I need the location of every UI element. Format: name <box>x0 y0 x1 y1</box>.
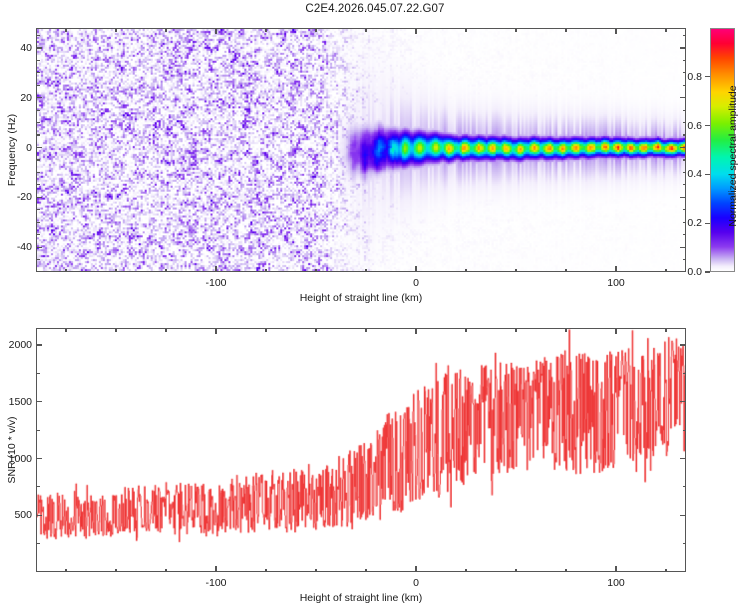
y-axis-major-tick <box>36 47 42 48</box>
x-axis-major-tick <box>615 566 616 572</box>
colorbar-tick <box>705 223 710 224</box>
y-axis-tick-label: -20 <box>0 191 32 203</box>
x-axis-minor-tick <box>115 569 116 573</box>
y-axis-minor-tick <box>683 110 687 111</box>
y-axis-minor-tick <box>683 35 687 36</box>
x-axis-minor-tick <box>115 28 116 32</box>
x-axis-major-tick <box>215 566 216 572</box>
spectrogram-axes <box>36 28 686 272</box>
y-axis-minor-tick <box>683 60 687 61</box>
y-axis-minor-tick <box>683 234 687 235</box>
x-axis-minor-tick <box>265 569 266 573</box>
colorbar-tick-label: 0.4 <box>670 168 702 180</box>
x-axis-major-tick <box>415 328 416 334</box>
y-axis-minor-tick <box>36 430 40 431</box>
x-axis-minor-tick <box>65 569 66 573</box>
colorbar-tick <box>705 76 710 77</box>
x-axis-major-tick <box>415 566 416 572</box>
y-axis-major-tick <box>36 97 42 98</box>
y-axis-tick-label: -40 <box>0 241 32 253</box>
y-axis-minor-tick <box>36 222 40 223</box>
x-axis-major-tick <box>615 28 616 34</box>
x-axis-minor-tick <box>315 569 316 573</box>
y-axis-major-tick <box>680 401 686 402</box>
x-axis-minor-tick <box>165 569 166 573</box>
colorbar-title: Normalized spectral amplitude <box>727 85 739 226</box>
y-axis-minor-tick <box>36 373 40 374</box>
x-axis-minor-tick <box>565 569 566 573</box>
y-axis-major-tick <box>680 197 686 198</box>
snr-y-axis-title: SNR (10 * v/v) <box>6 416 18 483</box>
page-title: C2E4.2026.045.07.22.G07 <box>0 3 750 15</box>
colorbar-tick-label: 0.2 <box>670 217 702 229</box>
y-axis-minor-tick <box>36 184 40 185</box>
y-axis-major-tick <box>680 458 686 459</box>
y-axis-minor-tick <box>36 172 40 173</box>
y-axis-minor-tick <box>683 134 687 135</box>
x-axis-minor-tick <box>565 28 566 32</box>
x-axis-tick-label: 100 <box>607 577 625 589</box>
x-axis-tick-label: -100 <box>205 577 226 589</box>
x-axis-minor-tick <box>565 269 566 273</box>
y-axis-major-tick <box>36 147 42 148</box>
y-axis-tick-label: 20 <box>0 92 32 104</box>
x-axis-minor-tick <box>665 28 666 32</box>
x-axis-minor-tick <box>465 269 466 273</box>
y-axis-major-tick <box>680 47 686 48</box>
y-axis-minor-tick <box>683 184 687 185</box>
x-axis-minor-tick <box>165 28 166 32</box>
x-axis-minor-tick <box>115 328 116 332</box>
x-axis-minor-tick <box>65 269 66 273</box>
y-axis-major-tick <box>36 401 42 402</box>
y-axis-minor-tick <box>683 159 687 160</box>
x-axis-minor-tick <box>365 328 366 332</box>
x-axis-minor-tick <box>665 269 666 273</box>
colorbar-tick <box>705 174 710 175</box>
x-axis-minor-tick <box>265 28 266 32</box>
x-axis-tick-label: 100 <box>607 277 625 289</box>
y-axis-major-tick <box>680 515 686 516</box>
y-axis-minor-tick <box>683 373 687 374</box>
y-axis-minor-tick <box>683 85 687 86</box>
figure-root: C2E4.2026.045.07.22.G07 -1000100-40-2002… <box>0 0 750 600</box>
y-axis-major-tick <box>36 458 42 459</box>
y-axis-minor-tick <box>36 134 40 135</box>
x-axis-major-tick <box>615 266 616 272</box>
x-axis-minor-tick <box>565 328 566 332</box>
x-axis-minor-tick <box>365 269 366 273</box>
y-axis-major-tick <box>680 344 686 345</box>
y-axis-minor-tick <box>36 110 40 111</box>
y-axis-minor-tick <box>36 259 40 260</box>
y-axis-major-tick <box>36 515 42 516</box>
colorbar-tick-label: 0.8 <box>670 71 702 83</box>
colorbar-tick-label: 0.0 <box>670 266 702 278</box>
y-axis-minor-tick <box>36 486 40 487</box>
colorbar-tick <box>705 125 710 126</box>
x-axis-minor-tick <box>465 328 466 332</box>
snr-canvas <box>37 329 685 571</box>
x-axis-minor-tick <box>315 28 316 32</box>
x-axis-minor-tick <box>365 569 366 573</box>
x-axis-tick-label: 0 <box>413 577 419 589</box>
x-axis-major-tick <box>415 266 416 272</box>
x-axis-minor-tick <box>515 269 516 273</box>
y-axis-major-tick <box>36 197 42 198</box>
y-axis-minor-tick <box>683 430 687 431</box>
y-axis-minor-tick <box>683 543 687 544</box>
y-axis-minor-tick <box>683 486 687 487</box>
y-axis-minor-tick <box>36 122 40 123</box>
y-axis-tick-label: 40 <box>0 42 32 54</box>
x-axis-major-tick <box>215 328 216 334</box>
y-axis-minor-tick <box>36 543 40 544</box>
y-axis-minor-tick <box>36 72 40 73</box>
snr-axes <box>36 328 686 572</box>
x-axis-minor-tick <box>515 569 516 573</box>
y-axis-minor-tick <box>36 159 40 160</box>
y-axis-minor-tick <box>36 234 40 235</box>
snr-x-axis-title: Height of straight line (km) <box>300 592 423 604</box>
y-axis-major-tick <box>680 247 686 248</box>
colorbar-tick-label: 0.6 <box>670 120 702 132</box>
x-axis-minor-tick <box>65 28 66 32</box>
x-axis-major-tick <box>215 266 216 272</box>
y-axis-major-tick <box>36 344 42 345</box>
y-axis-tick-label: 2000 <box>0 339 32 351</box>
y-axis-major-tick <box>680 97 686 98</box>
y-axis-minor-tick <box>683 259 687 260</box>
x-axis-minor-tick <box>465 28 466 32</box>
x-axis-major-tick <box>615 328 616 334</box>
x-axis-minor-tick <box>165 269 166 273</box>
y-axis-tick-label: 500 <box>0 509 32 521</box>
y-axis-minor-tick <box>36 35 40 36</box>
x-axis-minor-tick <box>315 328 316 332</box>
x-axis-minor-tick <box>315 269 316 273</box>
colorbar-tick <box>705 271 710 272</box>
x-axis-minor-tick <box>665 569 666 573</box>
y-axis-minor-tick <box>36 209 40 210</box>
x-axis-minor-tick <box>365 28 366 32</box>
spectrogram-x-axis-title: Height of straight line (km) <box>300 292 423 304</box>
x-axis-minor-tick <box>515 328 516 332</box>
y-axis-major-tick <box>36 247 42 248</box>
x-axis-minor-tick <box>65 328 66 332</box>
x-axis-minor-tick <box>665 328 666 332</box>
spectrogram-y-axis-title: Frequency (Hz) <box>6 114 18 186</box>
x-axis-minor-tick <box>115 269 116 273</box>
y-axis-tick-label: 1500 <box>0 396 32 408</box>
spectrogram-canvas <box>37 29 685 271</box>
x-axis-tick-label: 0 <box>413 277 419 289</box>
x-axis-minor-tick <box>265 328 266 332</box>
y-axis-minor-tick <box>683 209 687 210</box>
y-axis-minor-tick <box>36 85 40 86</box>
x-axis-minor-tick <box>265 269 266 273</box>
x-axis-tick-label: -100 <box>205 277 226 289</box>
x-axis-minor-tick <box>515 28 516 32</box>
y-axis-major-tick <box>680 147 686 148</box>
x-axis-major-tick <box>215 28 216 34</box>
x-axis-minor-tick <box>465 569 466 573</box>
y-axis-minor-tick <box>36 60 40 61</box>
x-axis-major-tick <box>415 28 416 34</box>
x-axis-minor-tick <box>165 328 166 332</box>
